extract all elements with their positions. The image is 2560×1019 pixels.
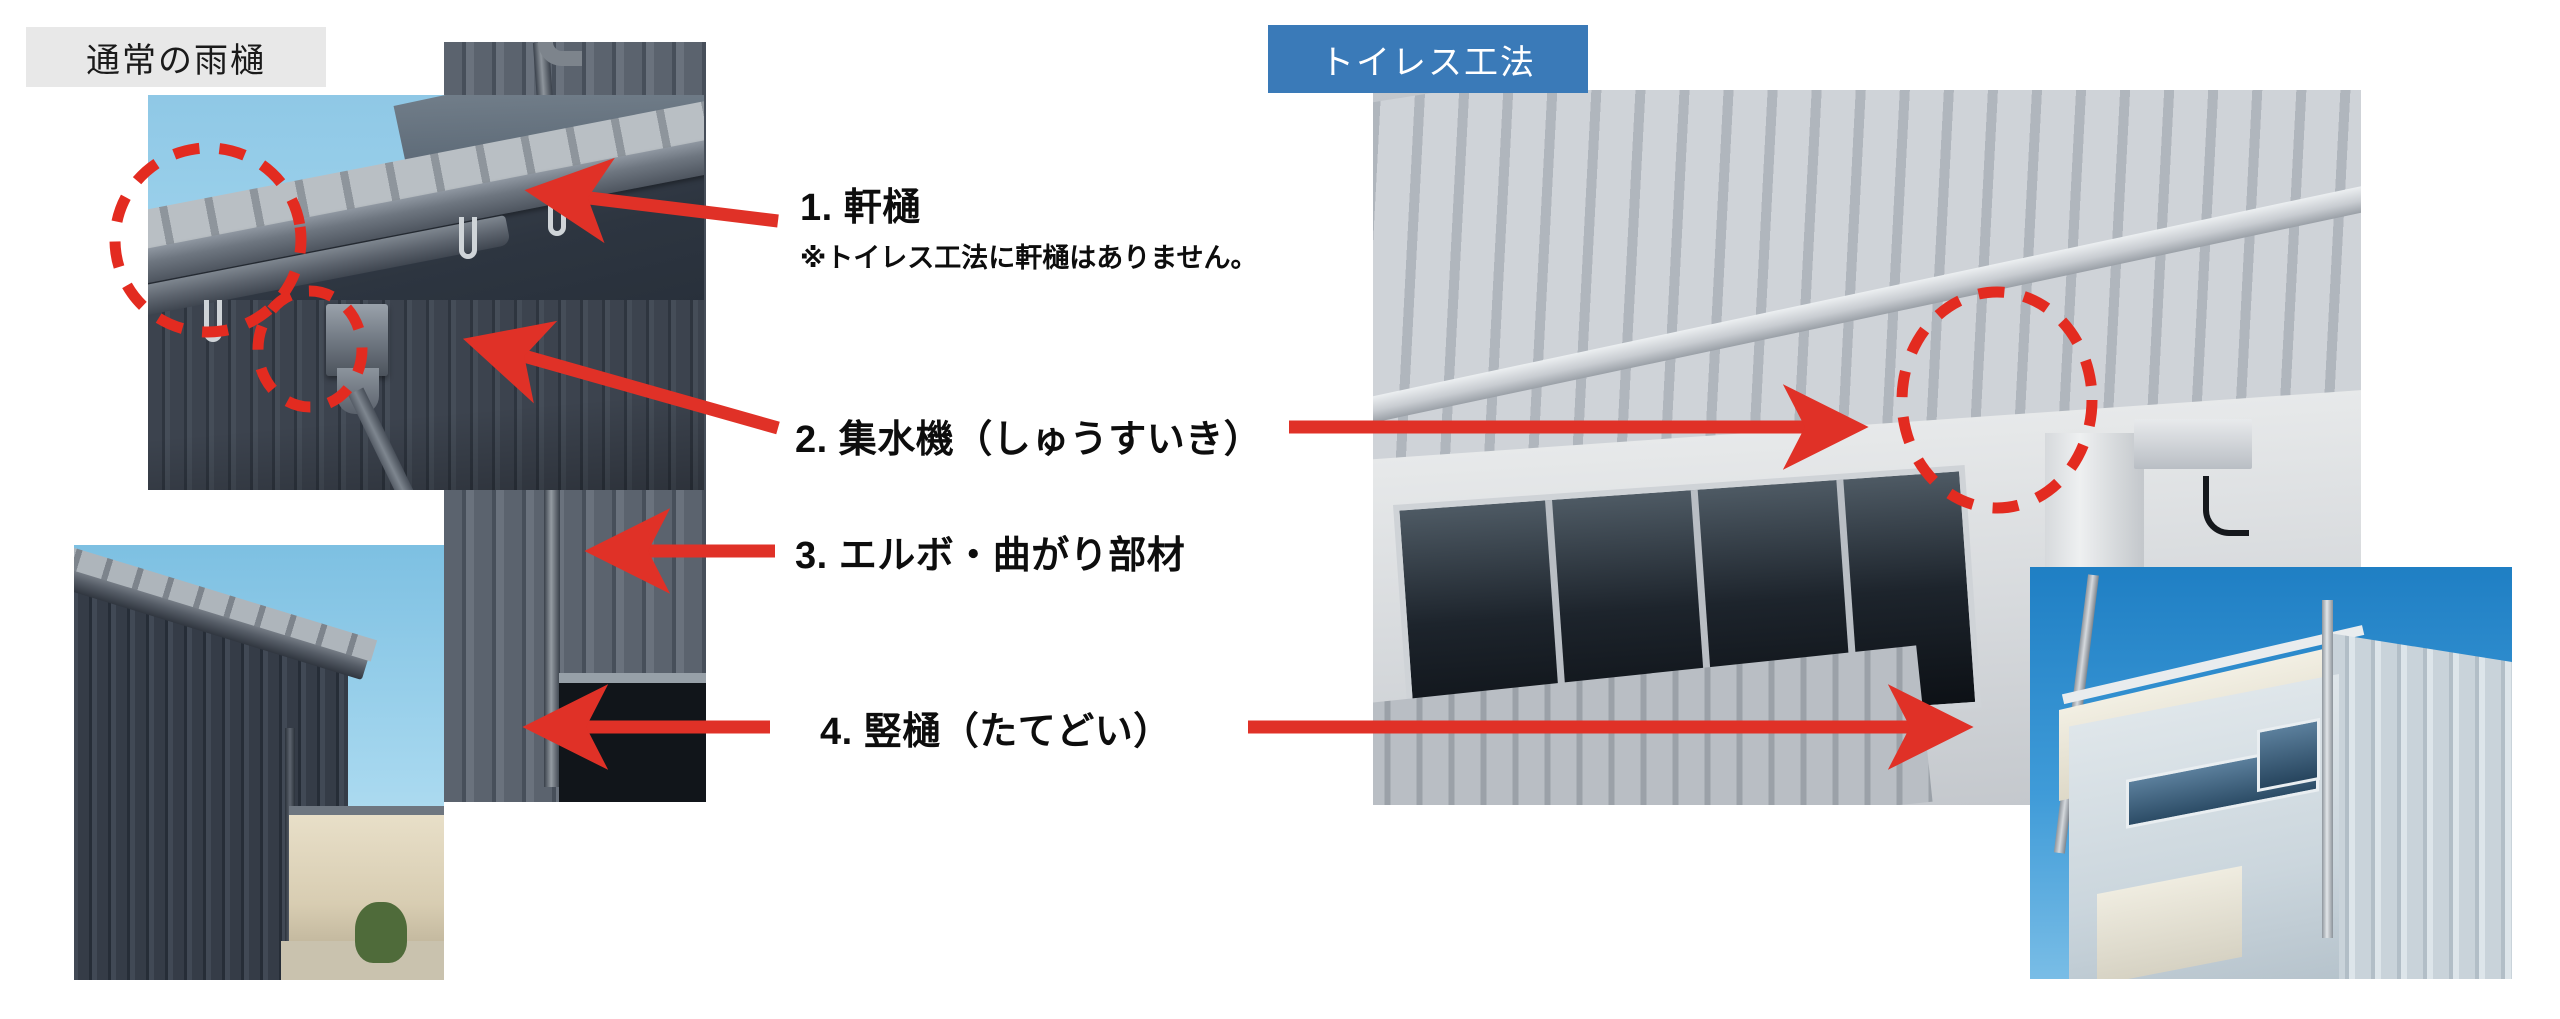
caption-toiless-method: トイレス工法 xyxy=(1268,25,1588,93)
left-main-photo xyxy=(148,95,704,490)
wall-siding xyxy=(148,300,704,490)
left-inset-photo xyxy=(74,545,444,980)
building-side-wall xyxy=(2329,633,2512,979)
gutter-hanger xyxy=(204,300,222,342)
window xyxy=(2257,717,2320,791)
item-label-shusuiki: 2. 集水機（しゅうすいき） xyxy=(795,408,1262,463)
shrub xyxy=(355,902,407,963)
gutter-hanger xyxy=(548,194,566,236)
item-label-elbow: 3. エルボ・曲がり部材 xyxy=(795,524,1185,579)
item-note-noki-dui: ※トイレス工法に軒樋はありません。 xyxy=(800,236,1257,275)
tatedoi-downpipe xyxy=(2322,600,2333,938)
caption-normal-gutter: 通常の雨樋 xyxy=(26,27,326,87)
black-rain-chain xyxy=(2203,476,2249,536)
rain-chain-bracket xyxy=(2134,419,2253,469)
item-label-tatedoi: 4. 竪樋（たてどい） xyxy=(820,700,1172,755)
right-inset-photo xyxy=(2030,567,2512,979)
item-label-noki-dui: 1. 軒樋 xyxy=(800,176,921,231)
slide-canvas: 通常の雨樋 トイレス工法 1. 軒樋 ※トイレス工法に軒樋はありません。 2. … xyxy=(0,0,2560,1019)
wall-opening xyxy=(559,673,706,802)
shusuiki-collector xyxy=(326,304,388,376)
gutter-hanger xyxy=(459,217,477,259)
